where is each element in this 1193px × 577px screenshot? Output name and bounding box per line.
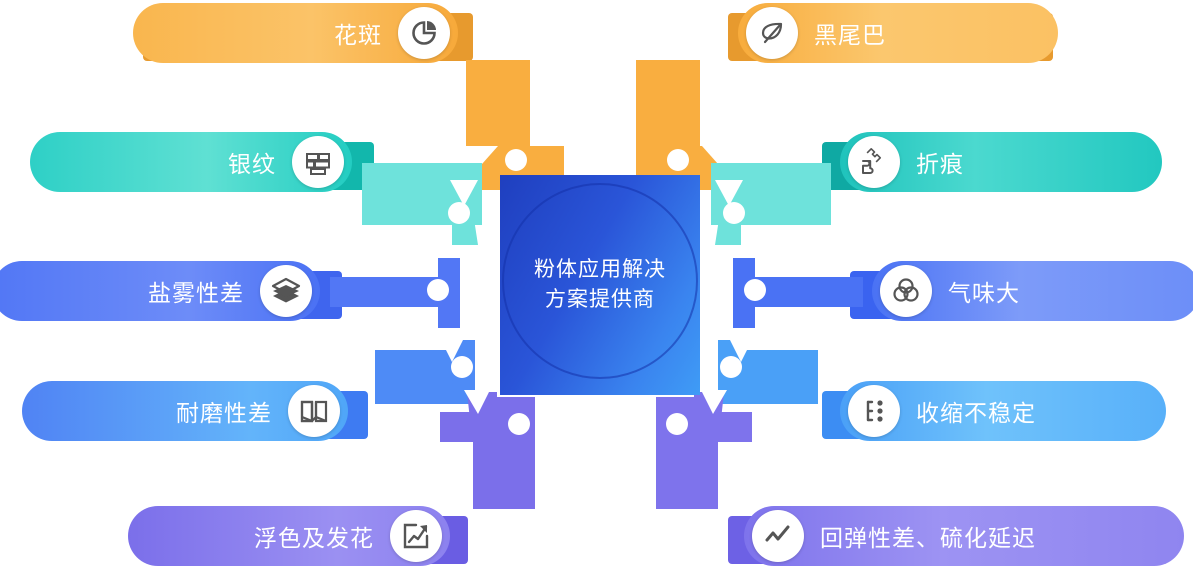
node-label-yanwu: 盐雾性差 <box>148 274 244 308</box>
node-pill-shousuo[interactable]: 收缩不稳定 <box>840 381 1166 441</box>
connector-huitan <box>656 390 752 509</box>
center-title: 粉体应用解决 方案提供商 <box>500 175 700 395</box>
node-pill-yanwu[interactable]: 盐雾性差 <box>0 261 320 321</box>
node-pill-heiweiba[interactable]: 黑尾巴 <box>738 3 1058 63</box>
node-pill-zhehen[interactable]: 折痕 <box>840 132 1162 192</box>
connector-naimo <box>375 338 475 404</box>
connector-zhehen <box>711 163 831 245</box>
node-label-zhehen: 折痕 <box>916 145 964 179</box>
node-pill-huitan[interactable]: 回弹性差、硫化延迟 <box>744 506 1184 566</box>
center-title-line-2: 方案提供商 <box>545 285 655 315</box>
node-label-huaban: 花斑 <box>334 16 382 50</box>
layers-icon <box>260 265 312 317</box>
connector-fuse <box>440 390 535 509</box>
open-book-icon <box>288 385 340 437</box>
node-pill-yinwen[interactable]: 银纹 <box>30 132 352 192</box>
node-pill-fuse[interactable]: 浮色及发花 <box>128 506 450 566</box>
node-label-fuse: 浮色及发花 <box>254 519 374 553</box>
node-pill-huaban[interactable]: 花斑 <box>133 3 458 63</box>
node-pill-naimo[interactable]: 耐磨性差 <box>22 381 348 441</box>
node-label-naimo: 耐磨性差 <box>176 394 272 428</box>
node-label-shousuo: 收缩不稳定 <box>916 394 1036 428</box>
center-node[interactable]: 粉体应用解决 方案提供商 <box>500 175 700 395</box>
connector-yanwu <box>330 258 460 328</box>
puzzle-piece-icon <box>848 136 900 188</box>
recycle-icon <box>880 265 932 317</box>
leaf-icon <box>746 7 798 59</box>
connector-yinwen <box>362 163 482 245</box>
brick-wall-icon <box>292 136 344 188</box>
node-pill-qiwei[interactable]: 气味大 <box>872 261 1193 321</box>
line-chart-circle-icon <box>752 510 804 562</box>
connector-shousuo <box>718 338 818 404</box>
node-label-huitan: 回弹性差、硫化延迟 <box>820 519 1036 553</box>
trending-up-box-icon <box>390 510 442 562</box>
sitemap-icon <box>848 385 900 437</box>
connector-qiwei <box>733 258 863 328</box>
infographic-canvas: 粉体应用解决 方案提供商 花斑 黑尾巴 银纹 <box>0 0 1193 577</box>
pie-chart-icon <box>398 7 450 59</box>
node-label-heiweiba: 黑尾巴 <box>814 16 886 50</box>
node-label-yinwen: 银纹 <box>228 145 276 179</box>
node-label-qiwei: 气味大 <box>948 274 1020 308</box>
center-title-line-1: 粉体应用解决 <box>534 255 666 285</box>
